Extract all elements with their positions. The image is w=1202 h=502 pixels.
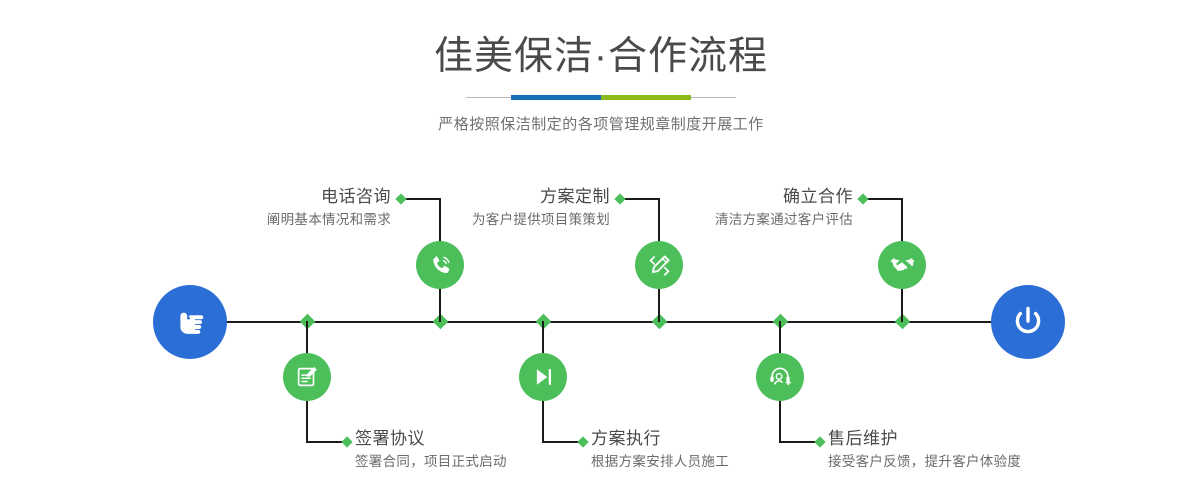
play-execute-icon (530, 364, 556, 390)
step-label-6: 售后维护 接受客户反馈，提升客户体验度 (828, 428, 1021, 472)
step-desc-5: 清洁方案通过客户评估 (640, 210, 853, 230)
step-label-5: 确立合作 清洁方案通过客户评估 (640, 186, 853, 230)
step-name-5: 确立合作 (640, 186, 853, 208)
branch-bullet-5 (857, 193, 868, 204)
step-desc-4: 根据方案安排人员施工 (591, 452, 729, 472)
cooperation-flow-infographic: 佳美保洁·合作流程 严格按照保洁制定的各项管理规章制度开展工作 (0, 0, 1202, 502)
step-icon-bubble-5 (878, 241, 926, 289)
step-icon-bubble-4 (519, 353, 567, 401)
step-label-3: 方案定制 为客户提供项目策策划 (378, 186, 610, 230)
flow-start-node (153, 285, 227, 359)
step-desc-3: 为客户提供项目策策划 (378, 210, 610, 230)
branch-bullet-4 (577, 436, 588, 447)
power-icon (1007, 301, 1049, 343)
step-name-4: 方案执行 (591, 428, 729, 450)
step-label-1: 电话咨询 阐明基本情况和需求 (155, 186, 391, 230)
step-desc-1: 阐明基本情况和需求 (155, 210, 391, 230)
step-label-2: 签署协议 签署合同，项目正式启动 (355, 428, 507, 472)
step-icon-bubble-6 (756, 353, 804, 401)
flow-end-node (991, 285, 1065, 359)
customer-service-icon (767, 364, 793, 390)
branch-bullet-3 (614, 193, 625, 204)
step-icon-bubble-1 (416, 241, 464, 289)
branch-bullet-6 (814, 436, 825, 447)
branch-bullet-2 (341, 436, 352, 447)
step-name-6: 售后维护 (828, 428, 1021, 450)
step-name-3: 方案定制 (378, 186, 610, 208)
step-icon-bubble-3 (635, 241, 683, 289)
step-label-4: 方案执行 根据方案安排人员施工 (591, 428, 729, 472)
phone-call-icon (427, 252, 454, 279)
step-desc-6: 接受客户反馈，提升客户体验度 (828, 452, 1021, 472)
step-desc-2: 签署合同，项目正式启动 (355, 452, 507, 472)
step-name-1: 电话咨询 (155, 186, 391, 208)
hand-pointing-icon (170, 302, 210, 342)
step-name-2: 签署协议 (355, 428, 507, 450)
pencil-design-icon (646, 252, 673, 279)
flow-diagram: 电话咨询 阐明基本情况和需求 签署协议 签署合同，项目正式启动 (0, 0, 1202, 502)
document-edit-icon (294, 364, 320, 390)
branch-line-horizontal-5 (863, 198, 903, 200)
step-icon-bubble-2 (283, 353, 331, 401)
handshake-icon (889, 252, 916, 279)
